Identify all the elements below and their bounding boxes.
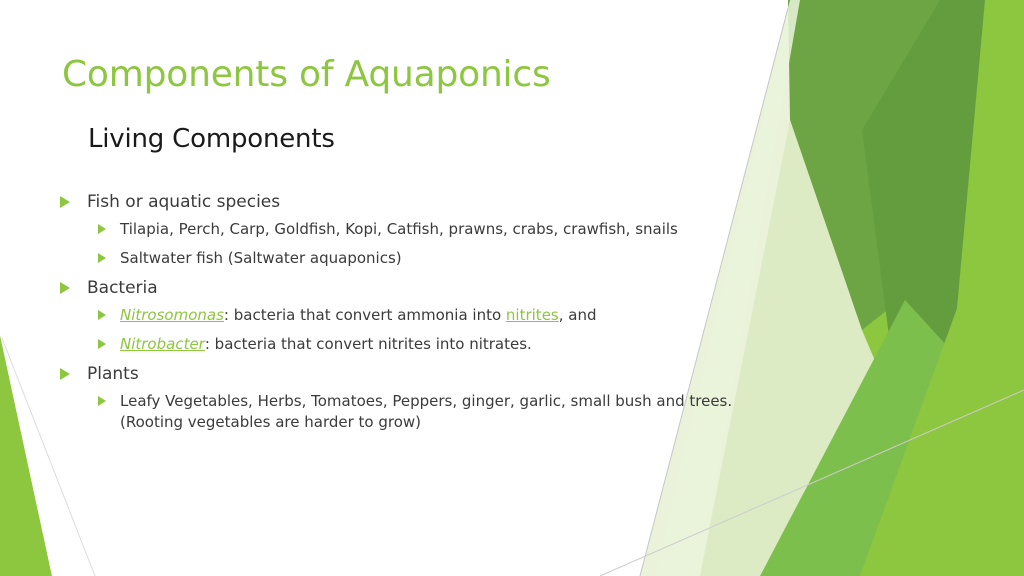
bullet-text: Nitrosomonas: bacteria that convert ammo…: [120, 305, 597, 326]
bullet-text: Saltwater fish (Saltwater aquaponics): [120, 248, 402, 269]
link-nitrites[interactable]: nitrites: [506, 306, 559, 324]
bullet-item-level2: Saltwater fish (Saltwater aquaponics): [60, 248, 780, 269]
bullet-item-level2: Tilapia, Perch, Carp, Goldfish, Kopi, Ca…: [60, 219, 780, 240]
link-nitrobacter[interactable]: Nitrobacter: [120, 335, 205, 353]
link-nitrosomonas[interactable]: Nitrosomonas: [120, 306, 224, 324]
bullet-triangle-icon: [60, 282, 70, 294]
bullet-text-mid: : bacteria that convert nitrites into ni…: [205, 335, 532, 353]
bullet-item-level2: Nitrosomonas: bacteria that convert ammo…: [60, 305, 780, 326]
slide-subtitle: Living Components: [88, 124, 335, 154]
bullet-text: Leafy Vegetables, Herbs, Tomatoes, Peppe…: [120, 391, 750, 433]
bullet-item-level2: Nitrobacter: bacteria that convert nitri…: [60, 334, 780, 355]
slide-canvas: Components of Aquaponics Living Componen…: [0, 0, 1024, 576]
page-title: Components of Aquaponics: [62, 54, 551, 95]
bullet-triangle-icon: [98, 310, 106, 320]
bullet-item-level2: Leafy Vegetables, Herbs, Tomatoes, Peppe…: [60, 391, 780, 433]
bullet-text: Nitrobacter: bacteria that convert nitri…: [120, 334, 532, 355]
deco-bright-lower: [760, 300, 1024, 576]
bullet-text-mid: : bacteria that convert ammonia into: [224, 306, 506, 324]
deco-lime-lower: [860, 300, 1024, 576]
bullet-item-level1: Fish or aquatic species: [60, 191, 780, 214]
bullet-text-tail: , and: [559, 306, 597, 324]
deco-lime-right: [880, 0, 1024, 576]
bullet-triangle-icon: [98, 253, 106, 263]
bullet-text: Tilapia, Perch, Carp, Goldfish, Kopi, Ca…: [120, 219, 678, 240]
bullet-list: Fish or aquatic species Tilapia, Perch, …: [60, 183, 780, 441]
bullet-triangle-icon: [60, 368, 70, 380]
bullet-triangle-icon: [98, 339, 106, 349]
bullet-text: Bacteria: [87, 277, 158, 300]
bullet-triangle-icon: [98, 224, 106, 234]
bullet-text: Fish or aquatic species: [87, 191, 280, 214]
bullet-item-level1: Bacteria: [60, 277, 780, 300]
bullet-text: Plants: [87, 363, 139, 386]
slide-content: Components of Aquaponics Living Componen…: [0, 0, 790, 576]
bullet-triangle-icon: [60, 196, 70, 208]
deco-bright-right: [805, 0, 1024, 576]
deco-dark-blade-shadow: [862, 0, 985, 420]
bullet-item-level1: Plants: [60, 363, 780, 386]
bullet-triangle-icon: [98, 396, 106, 406]
deco-dark-blade: [788, 0, 940, 330]
